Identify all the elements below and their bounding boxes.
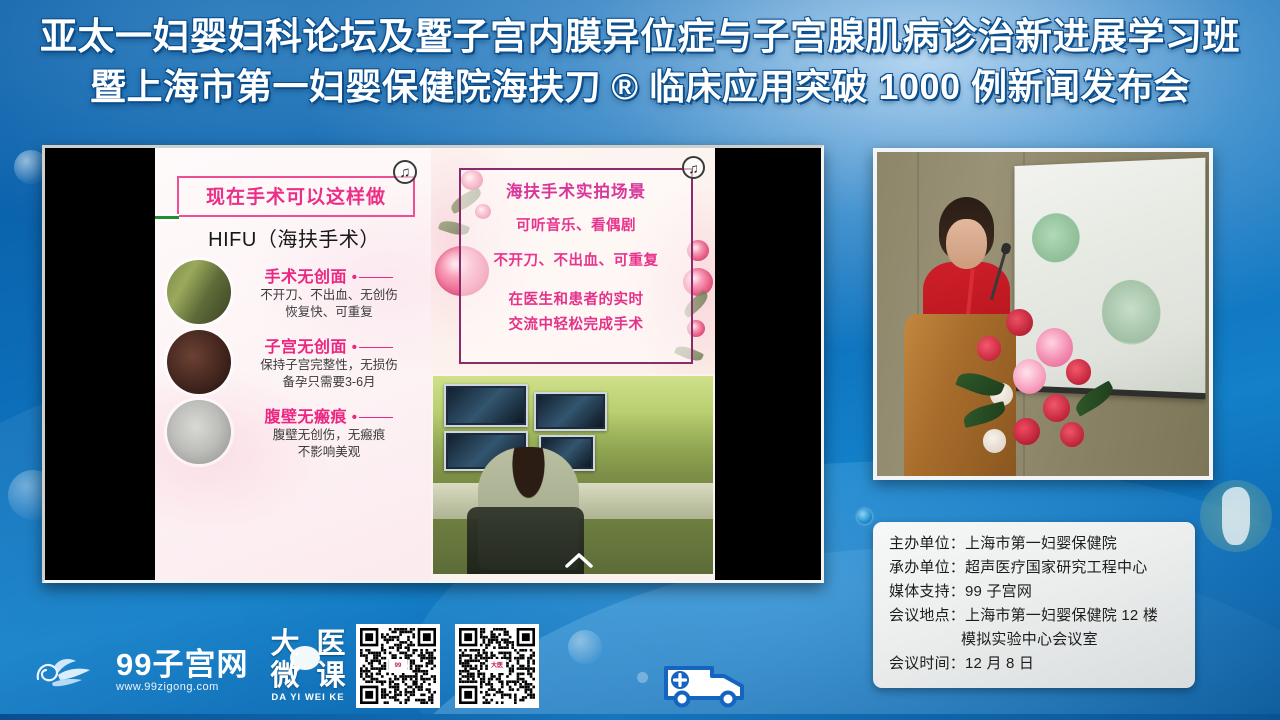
feature-thumbnail-operating-room — [167, 260, 231, 324]
feature-item: 子宫无创面 • 保持子宫完整性，无损伤 备孕只需要3-6月 — [167, 330, 421, 394]
green-accent-bar — [155, 214, 179, 221]
event-title-line-2: 暨上海市第一妇婴保健院海扶刀 ® 临床应用突破 1000 例新闻发布会 — [0, 62, 1280, 112]
feature-thumbnail-abdomen — [167, 400, 231, 464]
feature-title: 手术无创面 • — [237, 263, 421, 287]
chevron-up-icon — [565, 552, 593, 568]
speaker-face — [946, 219, 987, 269]
floral-card-line: 交流中轻松完成手术 — [461, 313, 691, 338]
qr-code-2[interactable]: 大医 — [455, 624, 539, 708]
slide-headline-box: 现在手术可以这样做 — [177, 176, 415, 217]
floral-card-line: 在医生和患者的实时 — [461, 288, 691, 313]
info-marker-icon — [857, 509, 872, 524]
feature-text: 腹壁无瘢痕 • 腹壁无创伤，无瘢痕 不影响美观 — [237, 403, 421, 461]
flower — [1066, 359, 1091, 384]
feature-line: 备孕只需要3-6月 — [237, 374, 421, 391]
event-info-card: 主办单位：上海市第一妇婴保健院 承办单位：超声医疗国家研究工程中心 媒体支持：9… — [873, 522, 1195, 688]
site-logo[interactable]: 99子宫网 www.99zigong.com — [30, 648, 248, 693]
monitor — [444, 384, 528, 428]
floral-message-card: ♫ 海扶手术实拍场景 可听音乐、看偶剧 不开刀、不出血、可重复 在医生和患者的实… — [431, 148, 715, 374]
flower — [1013, 359, 1046, 394]
feature-line: 腹壁无创伤，无瘢痕 — [237, 427, 421, 444]
floral-card-line: 不开刀、不出血、可重复 — [461, 249, 691, 274]
screen-content-blob — [1032, 212, 1080, 262]
slide-content: ♫ 现在手术可以这样做 HIFU（海扶手术） 手术无创面 • 不开刀、不出血、无… — [155, 148, 715, 580]
feature-text: 手术无创面 • 不开刀、不出血、无创伤 恢复快、可重复 — [237, 263, 421, 321]
logo-name: 99子宫网 — [116, 648, 248, 681]
floral-card-line: 可听音乐、看偶剧 — [461, 214, 691, 239]
feature-line: 恢复快、可重复 — [237, 304, 421, 321]
flower — [1013, 418, 1040, 445]
pregnancy-watermark-icon — [1200, 480, 1272, 552]
leaf-swirl-icon — [30, 649, 108, 693]
wechat-icon — [290, 646, 320, 670]
music-note-icon: ♫ — [682, 156, 705, 179]
feature-item: 腹壁无瘢痕 • 腹壁无创伤，无瘢痕 不影响美观 — [167, 400, 421, 464]
dayiweike-logo[interactable]: 大 医 微 课 DA YI WEI KE — [262, 628, 354, 710]
pregnant-figure-silhouette — [1222, 487, 1251, 545]
flower — [977, 336, 1002, 361]
slide-headline: 现在手术可以这样做 — [187, 182, 405, 209]
slide-right-column: ♫ 海扶手术实拍场景 可听音乐、看偶剧 不开刀、不出血、可重复 在医生和患者的实… — [431, 148, 715, 580]
qr-center-logo: 99 — [389, 659, 407, 673]
info-line-datetime: 会议时间：12 月 8 日 — [889, 652, 1181, 676]
info-line-venue-cont: 模拟实验中心会议室 — [889, 628, 1181, 652]
qr-center-logo: 大医 — [488, 659, 506, 673]
info-line-co-organizer: 承办单位：超声医疗国家研究工程中心 — [889, 556, 1181, 580]
feature-title: 腹壁无瘢痕 • — [237, 403, 421, 427]
speaker-video-panel[interactable] — [873, 148, 1213, 480]
flower — [983, 429, 1006, 452]
slide-subtitle: HIFU（海扶手术） — [167, 223, 421, 252]
event-title-line-1: 亚太一妇婴妇科论坛及暨子宫内膜异位症与子宫腺肌病诊治新进展学习班 — [0, 12, 1280, 62]
event-title-banner: 亚太一妇婴妇科论坛及暨子宫内膜异位症与子宫腺肌病诊治新进展学习班 暨上海市第一妇… — [0, 0, 1280, 137]
flower — [1006, 309, 1033, 336]
logo-url: www.99zigong.com — [116, 681, 248, 693]
feature-thumbnail-uterus — [167, 330, 231, 394]
dayiweike-pinyin: DA YI WEI KE — [262, 692, 354, 703]
flower — [1036, 328, 1073, 367]
foliage — [962, 401, 1008, 428]
flower — [1043, 394, 1070, 421]
floral-card-text: 海扶手术实拍场景 可听音乐、看偶剧 不开刀、不出血、可重复 在医生和患者的实时 … — [459, 168, 693, 364]
flower-arrangement — [963, 282, 1129, 476]
music-note-icon: ♫ — [393, 160, 417, 184]
logo-text-block: 99子宫网 www.99zigong.com — [116, 648, 248, 693]
qr-code-1[interactable]: 99 — [356, 624, 440, 708]
footer-band — [0, 714, 1280, 720]
flower — [1060, 422, 1085, 447]
info-line-venue: 会议地点：上海市第一妇婴保健院 12 楼 — [889, 604, 1181, 628]
slide-left-column: ♫ 现在手术可以这样做 HIFU（海扶手术） 手术无创面 • 不开刀、不出血、无… — [155, 148, 431, 580]
foliage — [1071, 381, 1117, 418]
ambulance-icon — [660, 658, 752, 708]
info-line-organizer: 主办单位：上海市第一妇婴保健院 — [889, 532, 1181, 556]
monitor — [534, 392, 607, 432]
clinic-workstation-photo — [433, 376, 713, 574]
feature-title: 子宫无创面 • — [237, 333, 421, 357]
info-line-media: 媒体支持：99 子宫网 — [889, 580, 1181, 604]
feature-item: 手术无创面 • 不开刀、不出血、无创伤 恢复快、可重复 — [167, 260, 421, 324]
feature-text: 子宫无创面 • 保持子宫完整性，无损伤 备孕只需要3-6月 — [237, 333, 421, 391]
floral-card-title: 海扶手术实拍场景 — [461, 178, 691, 202]
feature-line: 不影响美观 — [237, 444, 421, 461]
feature-line: 保持子宫完整性，无损伤 — [237, 357, 421, 374]
feature-line: 不开刀、不出血、无创伤 — [237, 287, 421, 304]
presentation-slide-panel[interactable]: ♫ 现在手术可以这样做 HIFU（海扶手术） 手术无创面 • 不开刀、不出血、无… — [42, 145, 824, 583]
